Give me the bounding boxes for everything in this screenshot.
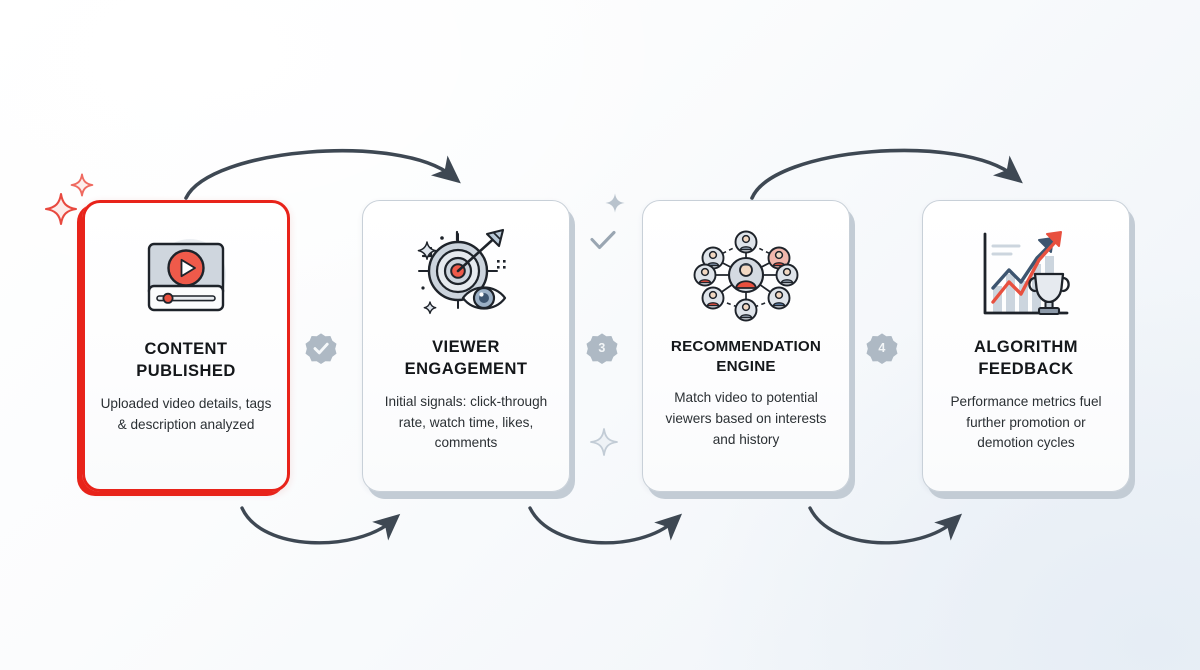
card-description: Initial signals: click-through rate, wat… — [377, 392, 555, 454]
card-title: ALGORITHM FEEDBACK — [937, 337, 1115, 381]
user-network-icon — [686, 223, 806, 327]
check-badge-icon — [305, 332, 337, 364]
sparkle-icon — [589, 427, 619, 457]
card-title: CONTENT PUBLISHED — [99, 339, 273, 383]
badge-number: 4 — [878, 341, 885, 355]
step-card-recommendation-engine[interactable]: RECOMMENDATION ENGINE Match video to pot… — [642, 200, 850, 492]
arrow-top-1 — [186, 151, 452, 198]
step-card-content-published[interactable]: CONTENT PUBLISHED Uploaded video details… — [82, 200, 290, 492]
badge-number: 3 — [598, 341, 605, 355]
connector-badge-4[interactable]: 4 — [866, 332, 898, 364]
sparkle-icon — [604, 192, 626, 214]
growth-chart-trophy-icon — [966, 223, 1086, 327]
card-description: Match video to potential viewers based o… — [657, 388, 835, 450]
card-description: Uploaded video details, tags & descripti… — [99, 394, 273, 436]
arrow-top-2 — [752, 150, 1014, 198]
card-title: VIEWER ENGAGEMENT — [377, 337, 555, 381]
check-icon — [588, 228, 618, 254]
connector-badge-3[interactable]: 3 — [586, 332, 618, 364]
arrow-bottom-2 — [530, 508, 674, 543]
diagram-canvas: CONTENT PUBLISHED Uploaded video details… — [0, 0, 1200, 670]
arrow-bottom-1 — [242, 508, 392, 543]
target-eye-icon — [406, 223, 526, 327]
step-card-viewer-engagement[interactable]: VIEWER ENGAGEMENT Initial signals: click… — [362, 200, 570, 492]
video-player-icon — [126, 225, 246, 329]
sparkle-icon — [44, 192, 78, 226]
connector-badge-check[interactable] — [305, 332, 337, 364]
card-description: Performance metrics fuel further promoti… — [937, 392, 1115, 454]
card-title: RECOMMENDATION ENGINE — [657, 337, 835, 377]
sparkle-icon — [70, 173, 94, 197]
arrow-bottom-3 — [810, 508, 954, 543]
step-card-algorithm-feedback[interactable]: ALGORITHM FEEDBACK Performance metrics f… — [922, 200, 1130, 492]
